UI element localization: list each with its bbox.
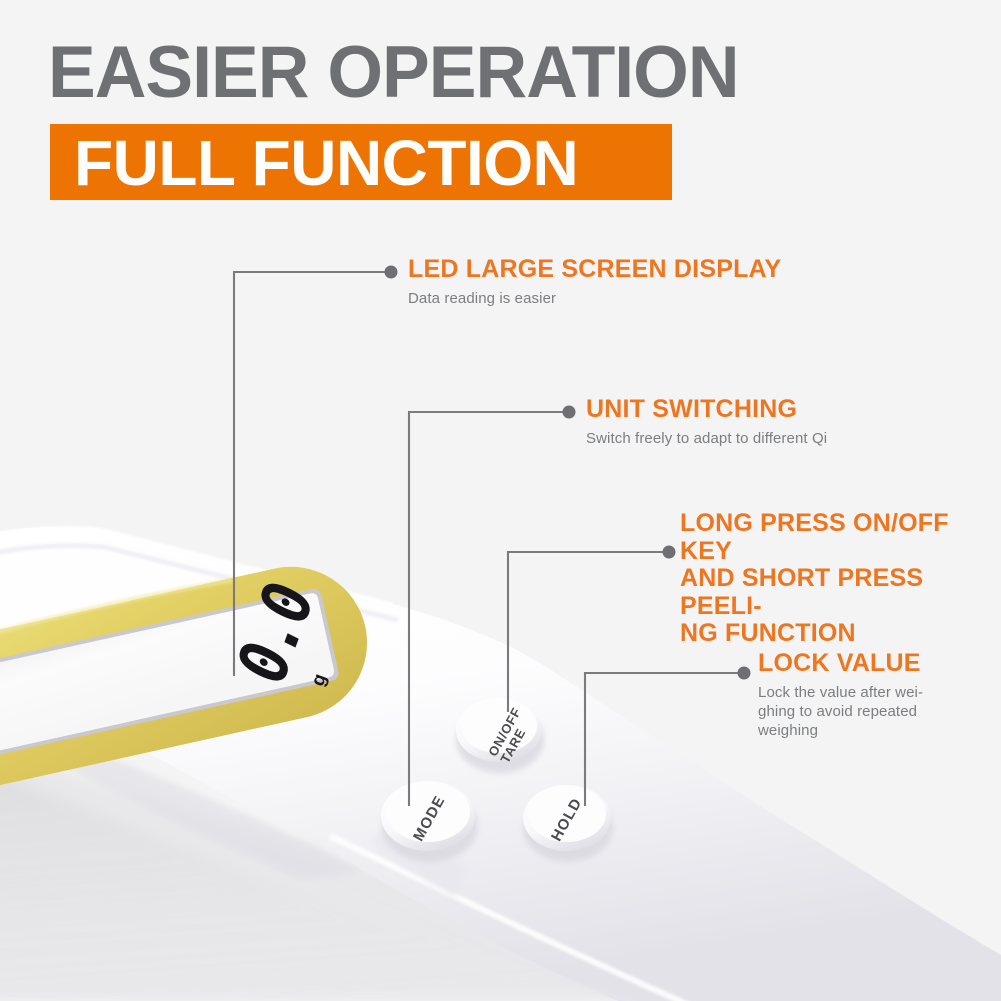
callout-lock-value-sub-line3: weighing <box>758 721 990 740</box>
callout-unit-switching: UNIT SWITCHING Switch freely to adapt to… <box>586 396 827 448</box>
callout-lock-value-sub-line1: Lock the value after wei- <box>758 683 990 702</box>
callout-led-screen-title: LED LARGE SCREEN DISPLAY <box>408 256 781 284</box>
page-title: EASIER OPERATION <box>48 38 739 107</box>
callout-unit-switching-subtitle: Switch freely to adapt to different Qi <box>586 429 827 448</box>
callout-onoff-tare-title-line1: LONG PRESS ON/OFF KEY <box>680 510 980 565</box>
banner-label: FULL FUNCTION <box>74 131 578 195</box>
callout-lock-value: LOCK VALUE Lock the value after wei- ghi… <box>758 650 990 740</box>
callout-lock-value-subtitle: Lock the value after wei- ghing to avoid… <box>758 683 990 741</box>
callout-unit-switching-title: UNIT SWITCHING <box>586 396 827 424</box>
callout-onoff-tare-title-line3: NG FUNCTION <box>680 620 980 648</box>
callout-lock-value-title: LOCK VALUE <box>758 650 990 678</box>
callout-led-screen: LED LARGE SCREEN DISPLAY Data reading is… <box>408 256 781 308</box>
callout-onoff-tare: LONG PRESS ON/OFF KEY AND SHORT PRESS PE… <box>680 510 980 648</box>
lcd-unit-label: g <box>307 671 332 689</box>
infographic-canvas: 0.0 g MODE ON/OFF TARE HOLD EASIER OP <box>0 0 1001 1001</box>
callout-led-screen-subtitle: Data reading is easier <box>408 289 781 308</box>
callout-onoff-tare-title-line2: AND SHORT PRESS PEELI- <box>680 565 980 620</box>
callout-lock-value-sub-line2: ghing to avoid repeated <box>758 702 990 721</box>
